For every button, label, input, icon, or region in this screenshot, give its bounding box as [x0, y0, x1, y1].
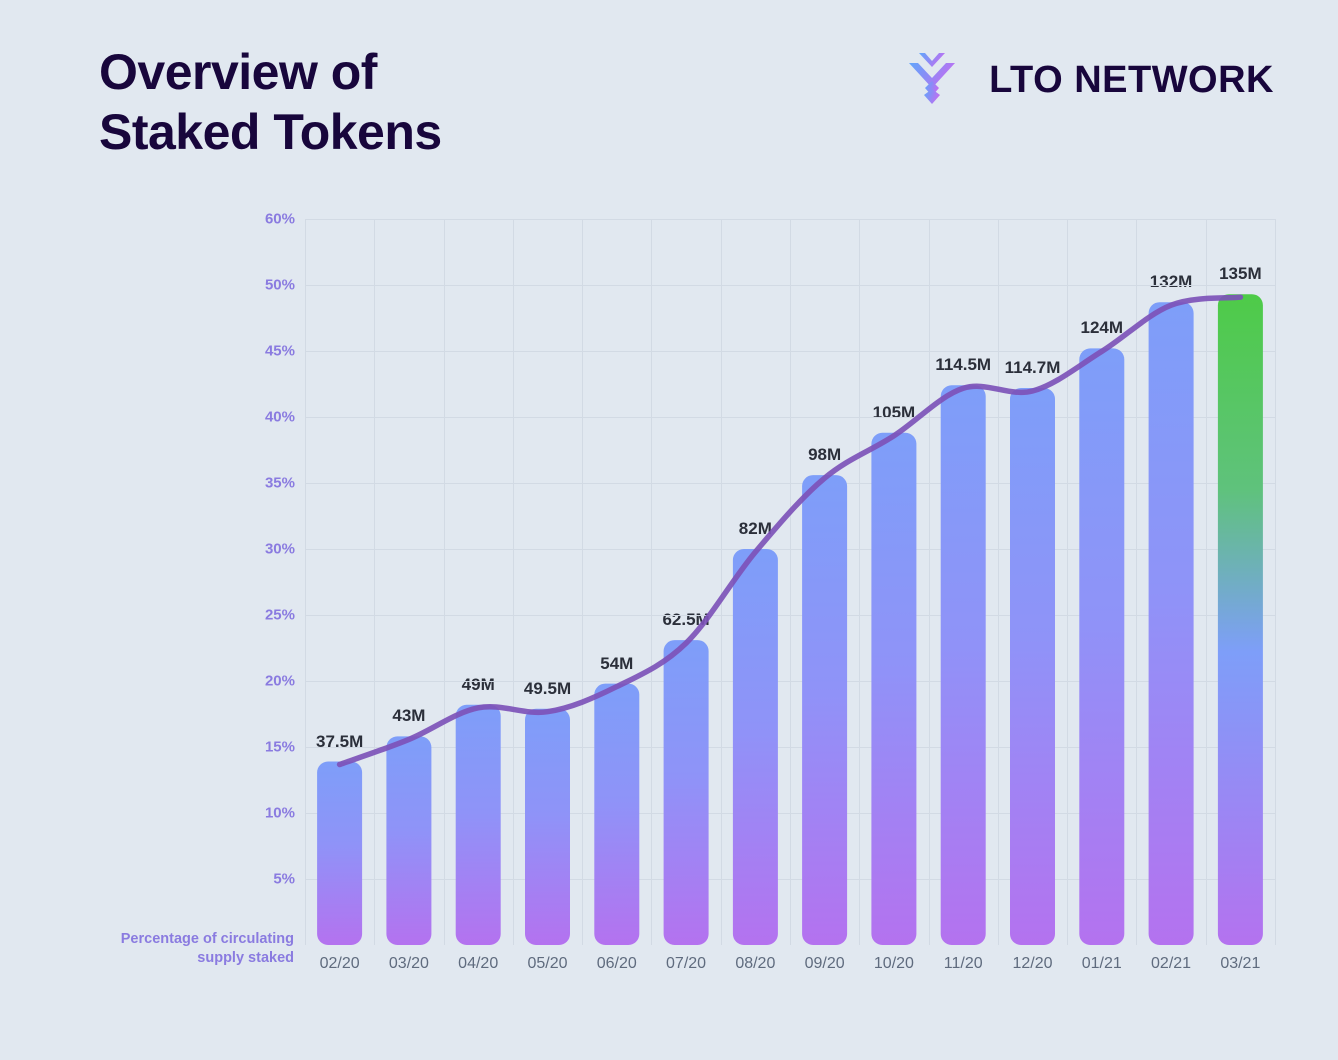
y-axis-tick-label: 15%: [175, 739, 295, 756]
y-axis-tick-label: 50%: [175, 277, 295, 294]
plot-area: [305, 215, 1275, 945]
staked-tokens-chart: Percentage of circulating supply staked …: [0, 0, 1338, 1060]
y-axis-title: Percentage of circulating supply staked: [40, 930, 294, 968]
y-axis-tick-label: 35%: [175, 475, 295, 492]
y-axis-tick-label: 60%: [175, 211, 295, 228]
trend-line-series: [305, 215, 1275, 945]
y-axis-tick-label: 10%: [175, 805, 295, 822]
y-axis-tick-label: 30%: [175, 541, 295, 558]
y-axis-tick-label: 5%: [175, 871, 295, 888]
x-axis-tick-label: 03/21: [1195, 955, 1285, 973]
y-axis-tick-label: 20%: [175, 673, 295, 690]
trend-line-path: [340, 297, 1241, 764]
y-axis-tick-label: 25%: [175, 607, 295, 624]
y-axis-tick-label: 45%: [175, 343, 295, 360]
y-axis-tick-label: 40%: [175, 409, 295, 426]
